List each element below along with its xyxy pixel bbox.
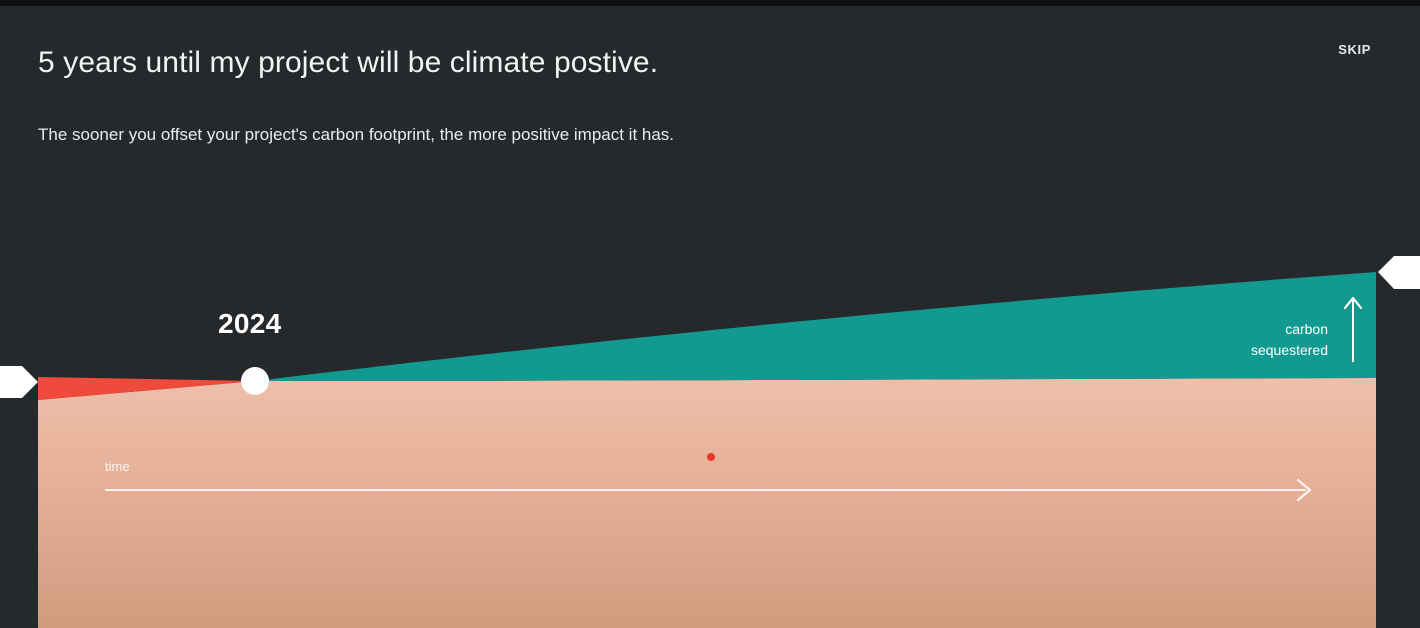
cursor-dot [707, 453, 715, 461]
right-drag-handle-icon[interactable] [1378, 256, 1420, 289]
carbon-sequestered-label-line2: sequestered [1178, 340, 1328, 361]
carbon-sequestered-label: carbon sequestered [1178, 319, 1328, 361]
carbon-footprint-area [38, 378, 1376, 628]
carbon-timeline-chart [0, 0, 1420, 628]
time-axis-label: time [105, 459, 130, 474]
climate-timeline-screen: 5 years until my project will be climate… [0, 0, 1420, 628]
chart-svg [0, 0, 1420, 628]
year-label: 2024 [218, 308, 282, 340]
left-drag-handle-icon[interactable] [0, 366, 38, 398]
carbon-sequestered-label-line1: carbon [1178, 319, 1328, 340]
timeline-handle-dot[interactable] [241, 367, 269, 395]
